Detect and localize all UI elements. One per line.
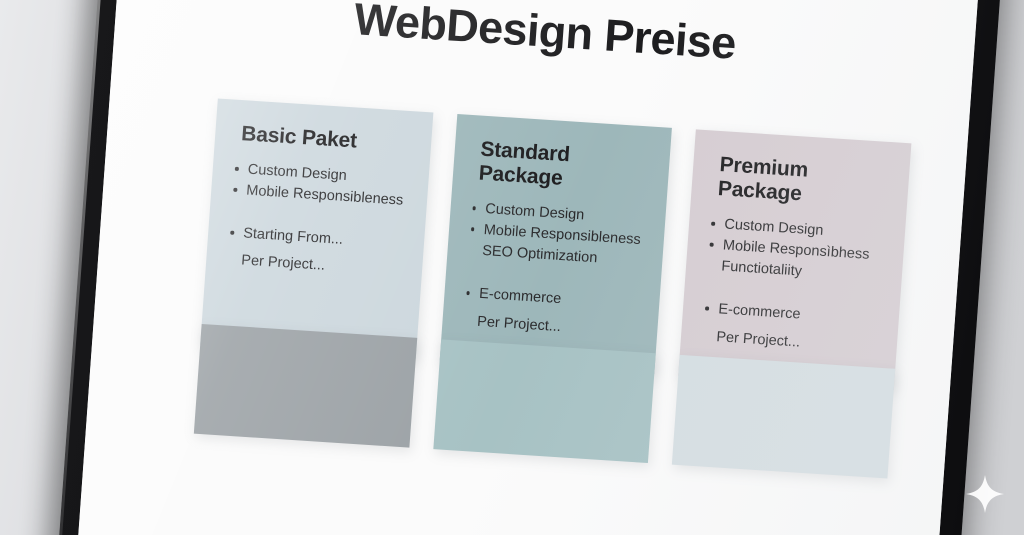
card-feature-list: Custom DesignMobile ResponsiblenessSEO O…	[461, 198, 646, 343]
laptop-screen: LOGO Dootlitnce WebDesign Preise	[72, 0, 982, 535]
laptop-device: LOGO Dootlitnce WebDesign Preise	[53, 0, 1005, 535]
card-title: Basic Paket	[241, 122, 412, 157]
card-feature-item: Per Project...	[461, 310, 638, 342]
card-feature-item: Starting From...	[227, 223, 404, 255]
page-title: WebDesign Preise	[115, 0, 976, 85]
pricing-card-premium[interactable]: Premium Package Custom DesignMobile Resp…	[679, 129, 912, 389]
pricing-card-basic[interactable]: Basic Paket Custom DesignMobile Responsi…	[200, 99, 433, 359]
pricing-card-standard[interactable]: Standard Package Custom DesignMobile Res…	[439, 114, 672, 374]
pricing-card-row2-2[interactable]	[433, 339, 656, 463]
card-feature-item: E-commerce	[703, 299, 880, 331]
photo-scene: LOGO Dootlitnce WebDesign Preise	[0, 0, 1024, 535]
card-feature-item: Per Project...	[701, 326, 878, 358]
pricing-card-row2-1[interactable]	[194, 324, 417, 448]
card-feature-list: Custom DesignMobile ResponsiblenessStart…	[226, 159, 409, 283]
pricing-card-row2-3[interactable]	[672, 355, 895, 479]
card-feature-list: Custom DesignMobile ResponsìbhessFunctio…	[701, 214, 886, 359]
card-feature-item: E-commerce	[463, 283, 640, 315]
card-title: Premium Package	[717, 153, 890, 212]
webpage: LOGO Dootlitnce WebDesign Preise	[72, 0, 982, 535]
card-feature-item: Per Project...	[226, 250, 403, 282]
card-title: Standard Package	[478, 138, 651, 197]
